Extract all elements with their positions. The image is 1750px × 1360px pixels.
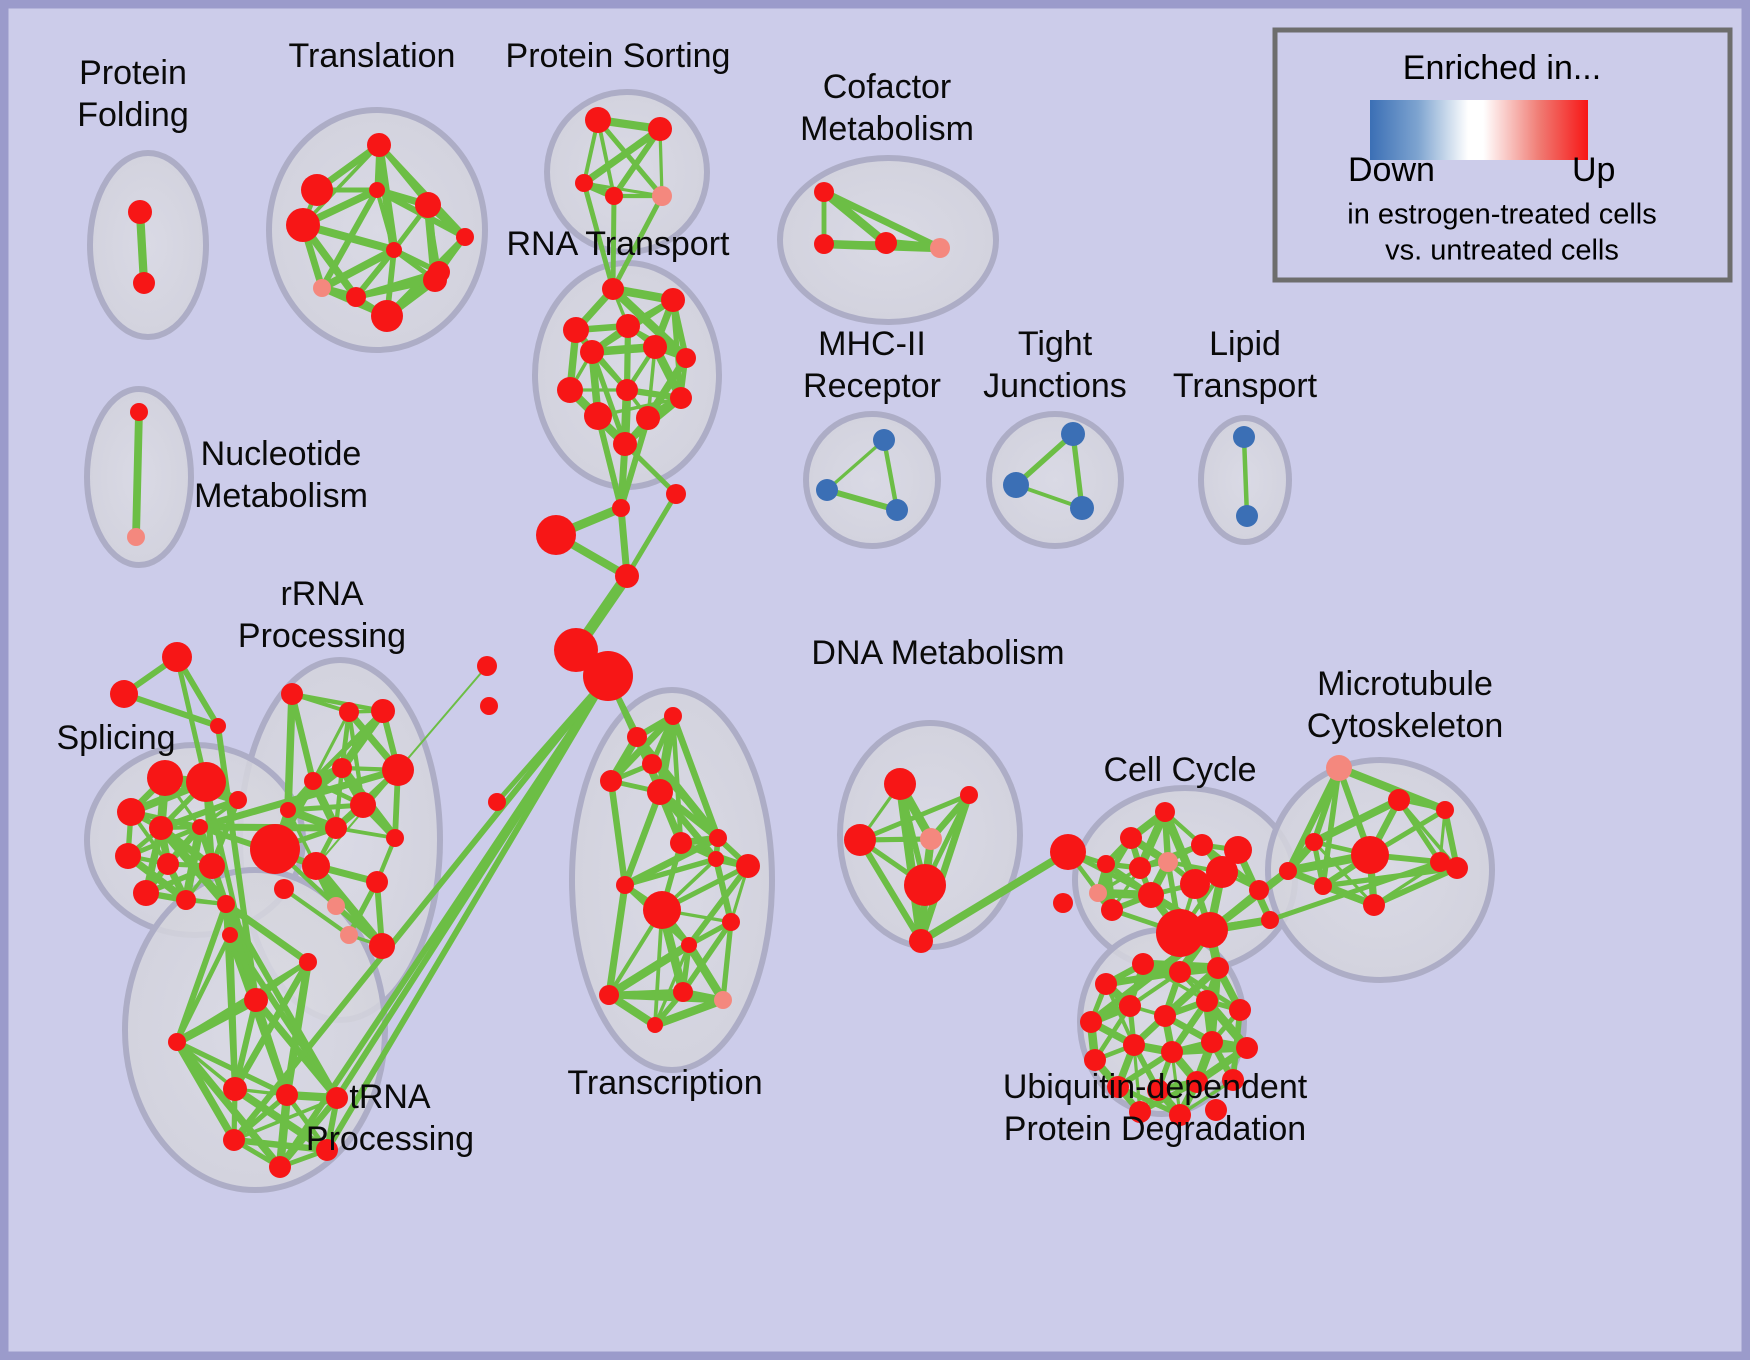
network-node[interactable] bbox=[340, 926, 358, 944]
legend-low-label: Down bbox=[1348, 151, 1435, 189]
network-node[interactable] bbox=[1229, 999, 1251, 1021]
network-node[interactable] bbox=[325, 817, 347, 839]
network-node[interactable] bbox=[602, 278, 624, 300]
network-node[interactable] bbox=[488, 793, 506, 811]
network-node[interactable] bbox=[281, 683, 303, 705]
network-node[interactable] bbox=[647, 1017, 663, 1033]
network-node[interactable] bbox=[1161, 1041, 1183, 1063]
network-node[interactable] bbox=[1196, 990, 1218, 1012]
network-node[interactable] bbox=[664, 707, 682, 725]
network-edge bbox=[136, 412, 139, 537]
network-node[interactable] bbox=[217, 895, 235, 913]
network-node[interactable] bbox=[652, 186, 672, 206]
network-node[interactable] bbox=[666, 484, 686, 504]
network-node[interactable] bbox=[1192, 912, 1228, 948]
cluster-label-dna-metabolism: DNA Metabolism bbox=[811, 634, 1064, 672]
network-node[interactable] bbox=[1095, 973, 1117, 995]
network-node[interactable] bbox=[600, 770, 622, 792]
network-node[interactable] bbox=[616, 876, 634, 894]
cluster-label-protein-sorting: Protein Sorting bbox=[506, 37, 731, 75]
network-node[interactable] bbox=[186, 762, 226, 802]
network-node[interactable] bbox=[884, 768, 916, 800]
network-node[interactable] bbox=[584, 402, 612, 430]
network-node[interactable] bbox=[1003, 472, 1029, 498]
network-node[interactable] bbox=[1080, 1011, 1102, 1033]
network-node[interactable] bbox=[415, 192, 441, 218]
network-node[interactable] bbox=[1120, 827, 1142, 849]
network-node[interactable] bbox=[1207, 957, 1229, 979]
network-node[interactable] bbox=[580, 340, 604, 364]
network-node[interactable] bbox=[286, 208, 320, 242]
network-node[interactable] bbox=[147, 760, 183, 796]
network-node[interactable] bbox=[274, 879, 294, 899]
network-node[interactable] bbox=[670, 832, 692, 854]
network-node[interactable] bbox=[176, 890, 196, 910]
network-node[interactable] bbox=[127, 528, 145, 546]
network-node[interactable] bbox=[563, 317, 589, 343]
network-node[interactable] bbox=[223, 1129, 245, 1151]
legend: Enriched in... Down Up in estrogen-treat… bbox=[1275, 30, 1730, 280]
network-node[interactable] bbox=[210, 718, 226, 734]
network-node[interactable] bbox=[1446, 857, 1468, 879]
network-node[interactable] bbox=[477, 656, 497, 676]
network-node[interactable] bbox=[332, 758, 352, 778]
network-node[interactable] bbox=[909, 929, 933, 953]
network-node[interactable] bbox=[722, 913, 740, 931]
network-node[interactable] bbox=[661, 288, 685, 312]
network-node[interactable] bbox=[1261, 911, 1279, 929]
network-node[interactable] bbox=[130, 403, 148, 421]
cluster-label-rna-transport: RNA Transport bbox=[507, 225, 731, 263]
network-node[interactable] bbox=[708, 851, 724, 867]
network-node[interactable] bbox=[814, 234, 834, 254]
network-node[interactable] bbox=[1132, 953, 1154, 975]
network-node[interactable] bbox=[557, 377, 583, 403]
network-node[interactable] bbox=[1053, 893, 1073, 913]
network-node[interactable] bbox=[366, 871, 388, 893]
network-node[interactable] bbox=[583, 651, 633, 701]
network-node[interactable] bbox=[676, 348, 696, 368]
network-node[interactable] bbox=[643, 335, 667, 359]
network-node[interactable] bbox=[223, 1077, 247, 1101]
network-node[interactable] bbox=[648, 117, 672, 141]
network-node[interactable] bbox=[1206, 856, 1238, 888]
network-node[interactable] bbox=[1119, 995, 1141, 1017]
network-node[interactable] bbox=[612, 499, 630, 517]
network-node[interactable] bbox=[643, 891, 681, 929]
network-node[interactable] bbox=[1236, 505, 1258, 527]
network-node[interactable] bbox=[302, 852, 330, 880]
legend-high-label: Up bbox=[1572, 151, 1615, 189]
network-node[interactable] bbox=[1158, 852, 1178, 872]
network-node[interactable] bbox=[157, 853, 179, 875]
cluster-hull-protein-folding[interactable] bbox=[90, 153, 206, 337]
network-node[interactable] bbox=[575, 174, 593, 192]
network-node[interactable] bbox=[1305, 833, 1323, 851]
network-node[interactable] bbox=[327, 897, 345, 915]
network-node[interactable] bbox=[615, 564, 639, 588]
network-node[interactable] bbox=[1097, 855, 1115, 873]
network-node[interactable] bbox=[128, 200, 152, 224]
network-node[interactable] bbox=[386, 829, 404, 847]
network-node[interactable] bbox=[814, 182, 834, 202]
enrichment-network-figure: ProteinFoldingTranslationNucleotideMetab… bbox=[0, 0, 1750, 1360]
network-node[interactable] bbox=[673, 982, 693, 1002]
network-node[interactable] bbox=[1191, 834, 1213, 856]
cluster-label-splicing: Splicing bbox=[56, 719, 175, 757]
network-node[interactable] bbox=[229, 791, 247, 809]
network-node[interactable] bbox=[149, 816, 173, 840]
network-node[interactable] bbox=[1351, 836, 1389, 874]
network-node[interactable] bbox=[367, 133, 391, 157]
network-node[interactable] bbox=[162, 642, 192, 672]
network-node[interactable] bbox=[642, 754, 662, 774]
network-node[interactable] bbox=[681, 937, 697, 953]
network-node[interactable] bbox=[599, 985, 619, 1005]
network-node[interactable] bbox=[280, 802, 296, 818]
network-node[interactable] bbox=[1236, 1037, 1258, 1059]
network-node[interactable] bbox=[386, 242, 402, 258]
cluster-label-cell-cycle: Cell Cycle bbox=[1103, 751, 1256, 789]
network-node[interactable] bbox=[616, 314, 640, 338]
network-node[interactable] bbox=[168, 1033, 186, 1051]
network-node[interactable] bbox=[299, 953, 317, 971]
network-node[interactable] bbox=[844, 824, 876, 856]
network-node[interactable] bbox=[536, 515, 576, 555]
network-node[interactable] bbox=[1138, 882, 1164, 908]
network-node[interactable] bbox=[1050, 834, 1086, 870]
network-node[interactable] bbox=[456, 228, 474, 246]
network-node[interactable] bbox=[339, 702, 359, 722]
network-node[interactable] bbox=[371, 300, 403, 332]
legend-subtitle-line-1: in estrogen-treated cells bbox=[1347, 199, 1657, 231]
legend-subtitle-line-2: vs. untreated cells bbox=[1385, 235, 1619, 267]
network-node[interactable] bbox=[616, 379, 638, 401]
network-node[interactable] bbox=[382, 754, 414, 786]
network-node[interactable] bbox=[369, 933, 395, 959]
network-node[interactable] bbox=[1169, 961, 1191, 983]
network-node[interactable] bbox=[301, 174, 333, 206]
network-node[interactable] bbox=[930, 238, 950, 258]
network-node[interactable] bbox=[244, 988, 268, 1012]
network-node[interactable] bbox=[133, 272, 155, 294]
network-node[interactable] bbox=[326, 1087, 348, 1109]
cluster-label-transcription: Transcription bbox=[567, 1064, 762, 1102]
network-node[interactable] bbox=[1129, 857, 1151, 879]
network-node[interactable] bbox=[1061, 422, 1085, 446]
network-edge bbox=[1244, 437, 1247, 516]
network-node[interactable] bbox=[670, 387, 692, 409]
network-node[interactable] bbox=[920, 828, 942, 850]
network-node[interactable] bbox=[369, 182, 385, 198]
network-node[interactable] bbox=[1155, 802, 1175, 822]
network-node[interactable] bbox=[1279, 862, 1297, 880]
network-node[interactable] bbox=[133, 880, 159, 906]
network-node[interactable] bbox=[1233, 426, 1255, 448]
network-node[interactable] bbox=[585, 107, 611, 133]
network-node[interactable] bbox=[605, 187, 623, 205]
network-node[interactable] bbox=[1436, 801, 1454, 819]
network-node[interactable] bbox=[222, 927, 238, 943]
network-node[interactable] bbox=[1201, 1031, 1223, 1053]
network-node[interactable] bbox=[709, 829, 727, 847]
network-node[interactable] bbox=[1326, 755, 1352, 781]
cluster-label-translation: Translation bbox=[289, 37, 456, 75]
network-node[interactable] bbox=[192, 819, 208, 835]
network-node[interactable] bbox=[480, 697, 498, 715]
network-node[interactable] bbox=[423, 268, 447, 292]
network-node[interactable] bbox=[1154, 1005, 1176, 1027]
network-node[interactable] bbox=[875, 232, 897, 254]
network-node[interactable] bbox=[816, 479, 838, 501]
network-node[interactable] bbox=[1249, 880, 1269, 900]
network-node[interactable] bbox=[1363, 894, 1385, 916]
network-node[interactable] bbox=[886, 499, 908, 521]
network-node[interactable] bbox=[250, 824, 300, 874]
network-node[interactable] bbox=[1123, 1034, 1145, 1056]
network-node[interactable] bbox=[714, 991, 732, 1009]
network-node[interactable] bbox=[1314, 877, 1332, 895]
network-node[interactable] bbox=[1101, 899, 1123, 921]
network-node[interactable] bbox=[613, 432, 637, 456]
network-node[interactable] bbox=[1388, 789, 1410, 811]
network-node[interactable] bbox=[346, 287, 366, 307]
network-edge bbox=[288, 694, 292, 810]
network-node[interactable] bbox=[110, 680, 138, 708]
network-node[interactable] bbox=[269, 1156, 291, 1178]
network-node[interactable] bbox=[647, 779, 673, 805]
network-node[interactable] bbox=[115, 843, 141, 869]
network-node[interactable] bbox=[199, 853, 225, 879]
network-node[interactable] bbox=[873, 429, 895, 451]
legend-title: Enriched in... bbox=[1403, 49, 1601, 87]
network-node[interactable] bbox=[313, 279, 331, 297]
network-node[interactable] bbox=[350, 792, 376, 818]
network-node[interactable] bbox=[960, 786, 978, 804]
figure-canvas: ProteinFoldingTranslationNucleotideMetab… bbox=[0, 0, 1750, 1360]
network-node[interactable] bbox=[1070, 496, 1094, 520]
network-node[interactable] bbox=[627, 727, 647, 747]
network-node[interactable] bbox=[736, 854, 760, 878]
network-node[interactable] bbox=[904, 864, 946, 906]
network-node[interactable] bbox=[117, 798, 145, 826]
network-node[interactable] bbox=[276, 1084, 298, 1106]
network-node[interactable] bbox=[371, 699, 395, 723]
network-node[interactable] bbox=[304, 772, 322, 790]
network-node[interactable] bbox=[636, 406, 660, 430]
network-node[interactable] bbox=[1180, 869, 1210, 899]
network-node[interactable] bbox=[1089, 884, 1107, 902]
